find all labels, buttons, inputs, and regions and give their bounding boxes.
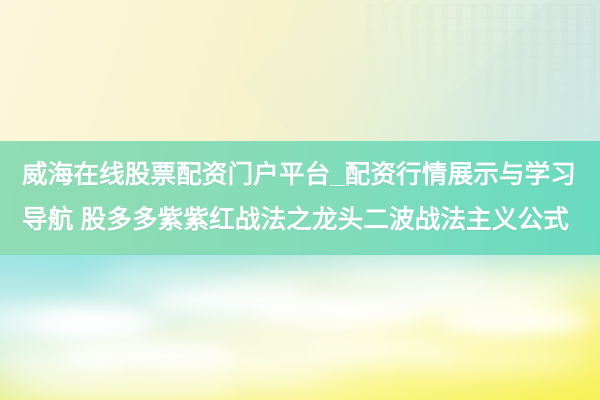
sky-gradient-panel xyxy=(0,255,600,400)
cloud-shape xyxy=(30,311,150,337)
faint-watermark-texture xyxy=(366,4,596,136)
top-gradient-panel xyxy=(0,0,600,141)
title-line-2: 导航 股多多紫紫红战法之龙头二波战法主义公式 xyxy=(22,206,569,234)
page-title: 威海在线股票配资门户平台_配资行情展示与学习导航 股多多紫紫红战法之龙头二波战法… xyxy=(0,153,600,243)
cloud-shape xyxy=(420,347,590,373)
cloud-shape xyxy=(205,279,315,299)
title-line-1: 威海在线股票配资门户平台_配资行情展示与学习 xyxy=(22,161,576,189)
title-band: 威海在线股票配资门户平台_配资行情展示与学习导航 股多多紫紫红战法之龙头二波战法… xyxy=(0,141,600,255)
cloud-shape xyxy=(440,309,590,335)
cloud-shape xyxy=(10,375,240,397)
cloud-shape xyxy=(0,351,130,375)
banner-image: 威海在线股票配资门户平台_配资行情展示与学习导航 股多多紫紫红战法之龙头二波战法… xyxy=(0,0,600,400)
